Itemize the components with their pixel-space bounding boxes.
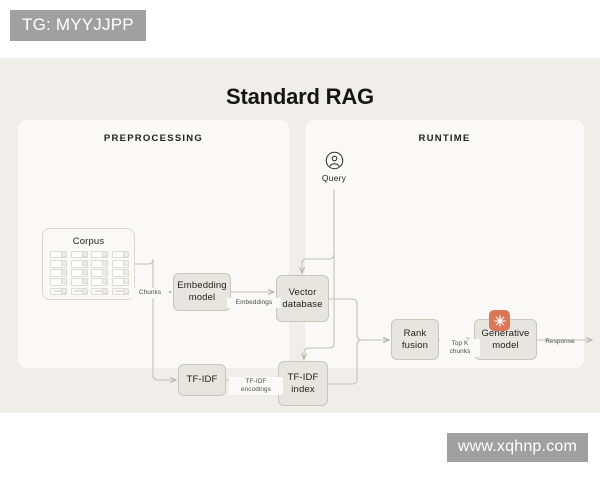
document-icon	[112, 288, 129, 295]
user-circle-icon	[325, 151, 344, 170]
document-icon	[71, 288, 88, 295]
watermark-bottom: www.xqhnp.com	[447, 433, 588, 462]
node-query-label: Query	[305, 173, 363, 183]
watermark-bottom-text: www.xqhnp.com	[458, 438, 577, 456]
document-icon	[112, 278, 129, 285]
doc-column	[50, 251, 67, 295]
node-rank-fusion[interactable]: Rank fusion	[391, 319, 439, 360]
node-corpus[interactable]: Corpus	[42, 228, 135, 300]
document-icon	[50, 260, 67, 267]
node-query[interactable]: Query	[305, 151, 363, 183]
node-embedding-model-label: Embedding model	[174, 280, 230, 304]
doc-column	[112, 251, 129, 295]
document-icon	[50, 288, 67, 295]
document-icon	[71, 278, 88, 285]
document-icon	[112, 269, 129, 276]
document-stack-icon	[50, 251, 129, 295]
edge-label-tfidf-encodings: TF-IDF encodings	[229, 377, 283, 395]
edge-label-response: Response	[536, 337, 584, 347]
diagram-canvas: Standard RAG PREPROCESSING RUNTIME	[0, 58, 600, 413]
document-icon	[50, 269, 67, 276]
document-icon	[71, 251, 88, 258]
panel-runtime-title: RUNTIME	[305, 133, 584, 144]
doc-column	[71, 251, 88, 295]
starburst-icon	[489, 310, 510, 331]
document-icon	[91, 269, 108, 276]
page-title: Standard RAG	[0, 84, 600, 110]
node-rank-fusion-label: Rank fusion	[392, 328, 438, 352]
doc-column	[91, 251, 108, 295]
document-icon	[71, 260, 88, 267]
document-icon	[91, 260, 108, 267]
panel-preprocessing-title: PREPROCESSING	[18, 133, 289, 144]
document-icon	[112, 251, 129, 258]
node-embedding-model[interactable]: Embedding model	[173, 273, 231, 311]
node-vector-database-label: Vector database	[277, 287, 328, 311]
node-tfidf-index[interactable]: TF-IDF index	[278, 361, 328, 406]
document-icon	[91, 251, 108, 258]
watermark-top: TG: MYYJJPP	[10, 10, 146, 41]
node-tfidf[interactable]: TF-IDF	[178, 364, 226, 396]
document-icon	[50, 251, 67, 258]
starburst-glyph	[493, 314, 507, 328]
document-icon	[91, 278, 108, 285]
node-generative-model-label: Generative model	[475, 328, 536, 352]
watermark-top-text: TG: MYYJJPP	[22, 15, 134, 35]
edge-label-topk-chunks: Top K chunks	[440, 339, 480, 357]
node-vector-database[interactable]: Vector database	[276, 275, 329, 322]
node-corpus-label: Corpus	[43, 236, 134, 248]
node-tfidf-label: TF-IDF	[187, 374, 218, 386]
document-icon	[91, 288, 108, 295]
edge-label-chunks: Chunks	[131, 288, 169, 298]
edge-label-embeddings: Embeddings	[227, 298, 281, 308]
node-tfidf-index-label: TF-IDF index	[279, 372, 327, 396]
document-icon	[71, 269, 88, 276]
document-icon	[112, 260, 129, 267]
document-icon	[50, 278, 67, 285]
